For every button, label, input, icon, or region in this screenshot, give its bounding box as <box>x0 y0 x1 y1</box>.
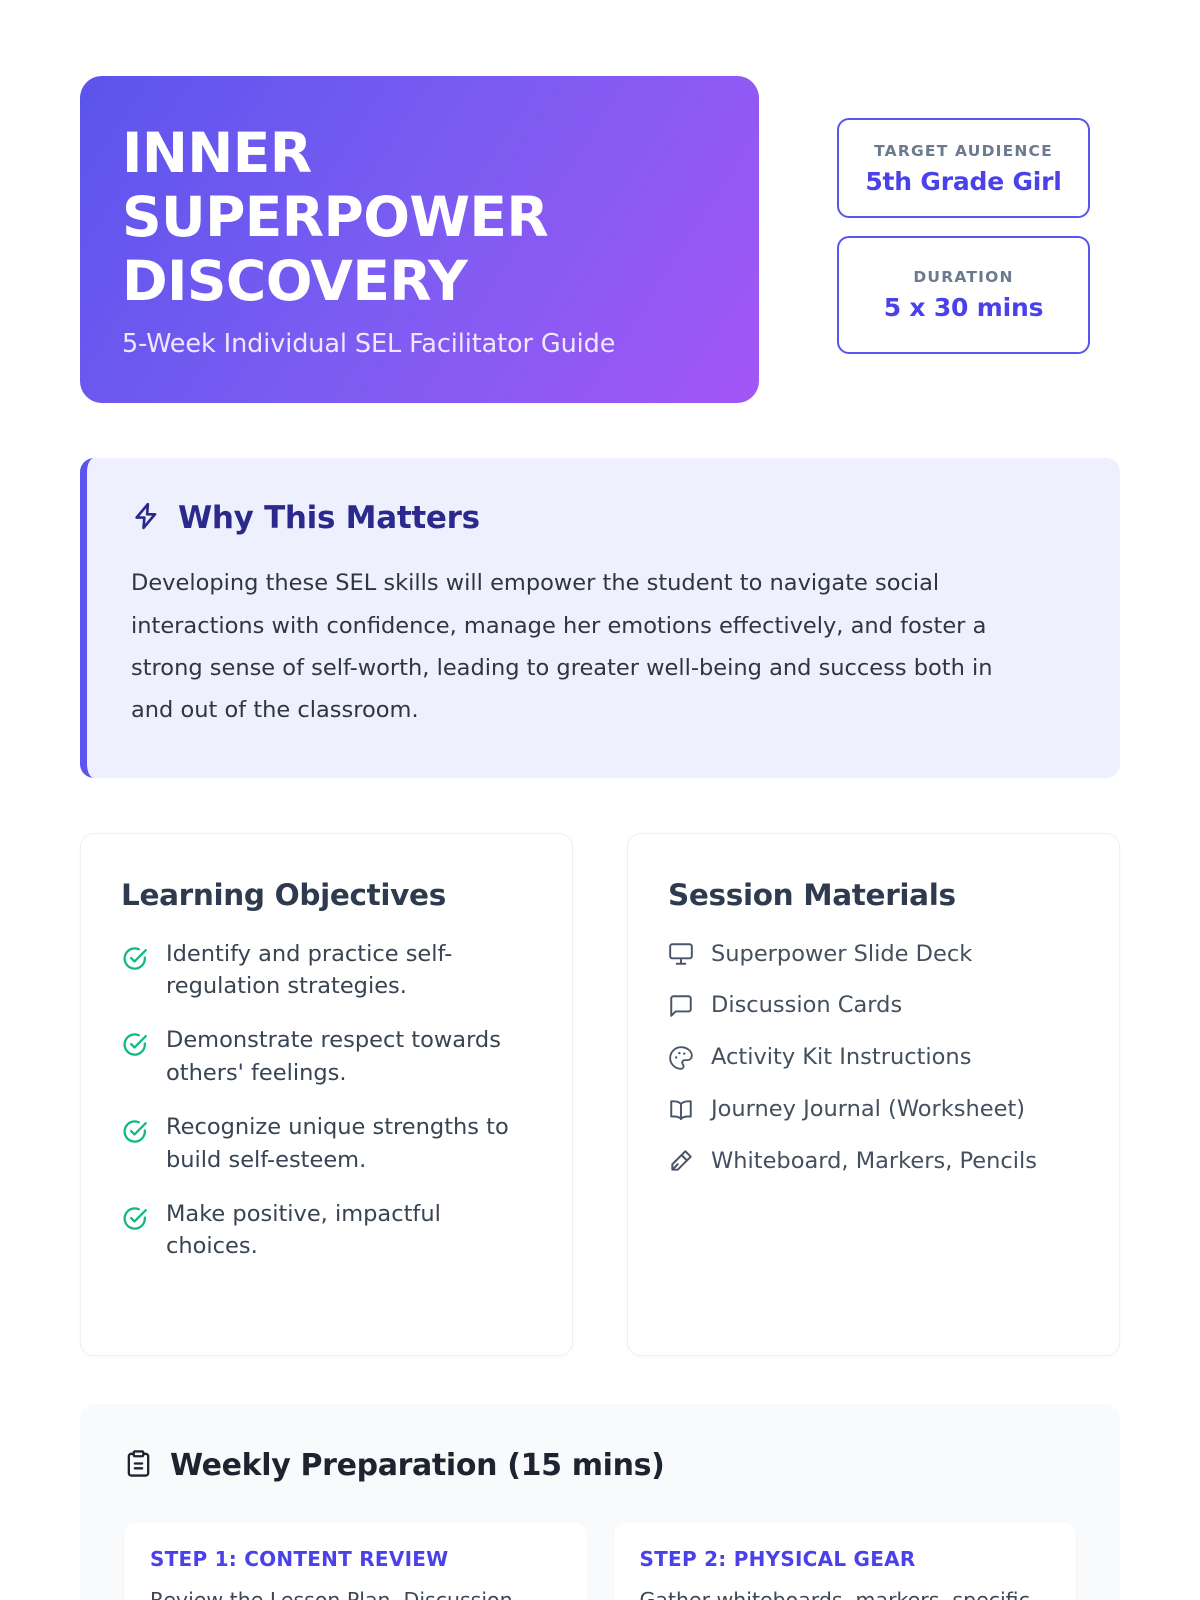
palette-icon <box>668 1045 694 1071</box>
lightning-bolt-icon <box>131 500 161 536</box>
material-text: Journey Journal (Worksheet) <box>711 1093 1025 1127</box>
list-item: Activity Kit Instructions <box>668 1041 1079 1075</box>
header-row: INNER SUPERPOWER DISCOVERY 5-Week Indivi… <box>80 0 1120 403</box>
material-text: Whiteboard, Markers, Pencils <box>711 1145 1037 1179</box>
monitor-icon <box>668 941 694 967</box>
highlighter-icon <box>668 1148 694 1174</box>
session-materials-card: Session Materials Superpower Slide Deck <box>627 833 1120 1356</box>
weekly-preparation-section: Weekly Preparation (15 mins) STEP 1: CON… <box>80 1404 1120 1600</box>
preparation-step-card: STEP 2: PHYSICAL GEAR Gather whiteboards… <box>614 1523 1077 1600</box>
target-audience-label: TARGET AUDIENCE <box>849 142 1078 160</box>
book-open-icon <box>668 1097 694 1123</box>
list-item: Recognize unique strengths to build self… <box>121 1111 532 1176</box>
material-text: Activity Kit Instructions <box>711 1041 971 1075</box>
learning-objectives-list: Identify and practice self-regulation st… <box>121 938 532 1263</box>
page-subtitle: 5-Week Individual SEL Facilitator Guide <box>122 329 707 359</box>
check-circle-icon <box>121 1031 148 1058</box>
callout-body: Developing these SEL skills will empower… <box>131 562 1041 731</box>
list-item: Make positive, impactful choices. <box>121 1198 532 1263</box>
list-item: Whiteboard, Markers, Pencils <box>668 1145 1079 1179</box>
why-this-matters-callout: Why This Matters Developing these SEL sk… <box>80 458 1120 777</box>
clipboard-list-icon <box>124 1448 153 1483</box>
page-title-line-2: SUPERPOWER <box>122 186 707 250</box>
check-circle-icon <box>121 1118 148 1145</box>
step-body: Review the Lesson Plan, Discussion <box>150 1585 561 1600</box>
preparation-steps-row: STEP 1: CONTENT REVIEW Review the Lesson… <box>124 1523 1076 1600</box>
objective-text: Make positive, impactful choices. <box>166 1198 532 1263</box>
page-title-line-1: INNER <box>122 122 707 186</box>
page-title: INNER SUPERPOWER DISCOVERY <box>122 122 707 313</box>
step-label: STEP 1: CONTENT REVIEW <box>150 1547 561 1571</box>
duration-card: DURATION 5 x 30 mins <box>837 236 1090 354</box>
duration-value: 5 x 30 mins <box>849 293 1078 322</box>
page-title-line-3: DISCOVERY <box>122 250 707 314</box>
preparation-step-card: STEP 1: CONTENT REVIEW Review the Lesson… <box>124 1523 587 1600</box>
material-text: Discussion Cards <box>711 989 902 1023</box>
learning-objectives-title: Learning Objectives <box>121 878 532 912</box>
objective-text: Demonstrate respect towards others' feel… <box>166 1024 532 1089</box>
session-materials-list: Superpower Slide Deck Discussion Cards <box>668 938 1079 1179</box>
objective-text: Identify and practice self-regulation st… <box>166 938 532 1003</box>
hero-banner: INNER SUPERPOWER DISCOVERY 5-Week Indivi… <box>80 76 759 403</box>
weekly-preparation-title: Weekly Preparation (15 mins) <box>170 1448 664 1483</box>
check-circle-icon <box>121 1205 148 1232</box>
target-audience-card: TARGET AUDIENCE 5th Grade Girl <box>837 118 1090 218</box>
card-grid: Learning Objectives Identify and practic… <box>80 833 1120 1356</box>
list-item: Demonstrate respect towards others' feel… <box>121 1024 532 1089</box>
callout-title: Why This Matters <box>178 500 480 536</box>
objective-text: Recognize unique strengths to build self… <box>166 1111 532 1176</box>
meta-card-column: TARGET AUDIENCE 5th Grade Girl DURATION … <box>837 76 1090 354</box>
check-circle-icon <box>121 945 148 972</box>
facilitator-guide-page: INNER SUPERPOWER DISCOVERY 5-Week Indivi… <box>0 0 1200 1600</box>
duration-label: DURATION <box>849 268 1078 286</box>
weekly-preparation-header: Weekly Preparation (15 mins) <box>124 1448 1076 1483</box>
material-text: Superpower Slide Deck <box>711 938 972 972</box>
list-item: Discussion Cards <box>668 989 1079 1023</box>
list-item: Superpower Slide Deck <box>668 938 1079 972</box>
message-square-icon <box>668 993 694 1019</box>
learning-objectives-card: Learning Objectives Identify and practic… <box>80 833 573 1356</box>
list-item: Identify and practice self-regulation st… <box>121 938 532 1003</box>
session-materials-title: Session Materials <box>668 878 1079 912</box>
step-label: STEP 2: PHYSICAL GEAR <box>640 1547 1051 1571</box>
target-audience-value: 5th Grade Girl <box>849 167 1078 196</box>
callout-header: Why This Matters <box>131 500 1074 536</box>
step-body: Gather whiteboards, markers, specific <box>640 1585 1051 1600</box>
list-item: Journey Journal (Worksheet) <box>668 1093 1079 1127</box>
